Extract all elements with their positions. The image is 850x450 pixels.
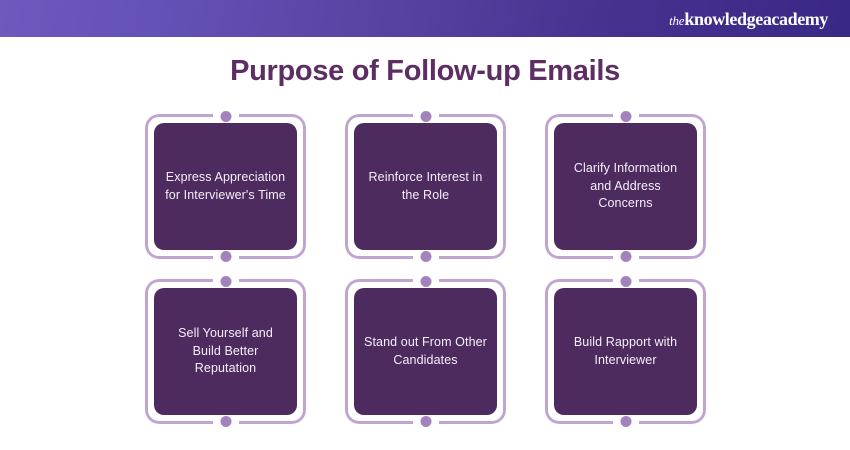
card-dot-bottom-icon <box>220 416 231 427</box>
brand-logo-the: the <box>669 14 684 27</box>
purpose-card-grid: Express Appreciation for Interviewer's T… <box>145 114 706 424</box>
card-express-appreciation[interactable]: Express Appreciation for Interviewer's T… <box>145 114 306 259</box>
card-build-rapport[interactable]: Build Rapport with Interviewer <box>545 279 706 424</box>
card-sell-yourself[interactable]: Sell Yourself and Build Better Reputatio… <box>145 279 306 424</box>
card-clarify-information[interactable]: Clarify Information and Address Concerns <box>545 114 706 259</box>
card-dot-top-icon <box>220 111 231 122</box>
card-dot-bottom-icon <box>420 251 431 262</box>
brand-logo-knowledge: knowledge <box>684 10 762 28</box>
brand-logo-academy: academy <box>763 10 828 28</box>
card-dot-top-icon <box>420 111 431 122</box>
card-label: Stand out From Other Candidates <box>363 334 488 370</box>
card-inner: Reinforce Interest in the Role <box>354 123 497 250</box>
header-band: theknowledgeacademy <box>0 0 850 37</box>
card-label: Build Rapport with Interviewer <box>563 334 688 370</box>
card-dot-bottom-icon <box>620 416 631 427</box>
card-inner: Build Rapport with Interviewer <box>554 288 697 415</box>
card-label: Express Appreciation for Interviewer's T… <box>163 169 288 205</box>
card-reinforce-interest[interactable]: Reinforce Interest in the Role <box>345 114 506 259</box>
card-label: Sell Yourself and Build Better Reputatio… <box>163 325 288 378</box>
card-dot-top-icon <box>620 111 631 122</box>
card-inner: Stand out From Other Candidates <box>354 288 497 415</box>
card-dot-top-icon <box>420 276 431 287</box>
card-label: Clarify Information and Address Concerns <box>563 160 688 213</box>
card-inner: Clarify Information and Address Concerns <box>554 123 697 250</box>
card-inner: Express Appreciation for Interviewer's T… <box>154 123 297 250</box>
card-dot-top-icon <box>620 276 631 287</box>
card-dot-bottom-icon <box>420 416 431 427</box>
card-inner: Sell Yourself and Build Better Reputatio… <box>154 288 297 415</box>
brand-logo: theknowledgeacademy <box>669 10 828 28</box>
card-stand-out[interactable]: Stand out From Other Candidates <box>345 279 506 424</box>
card-dot-bottom-icon <box>220 251 231 262</box>
card-label: Reinforce Interest in the Role <box>363 169 488 205</box>
card-dot-bottom-icon <box>620 251 631 262</box>
page-title: Purpose of Follow-up Emails <box>0 55 850 88</box>
card-dot-top-icon <box>220 276 231 287</box>
